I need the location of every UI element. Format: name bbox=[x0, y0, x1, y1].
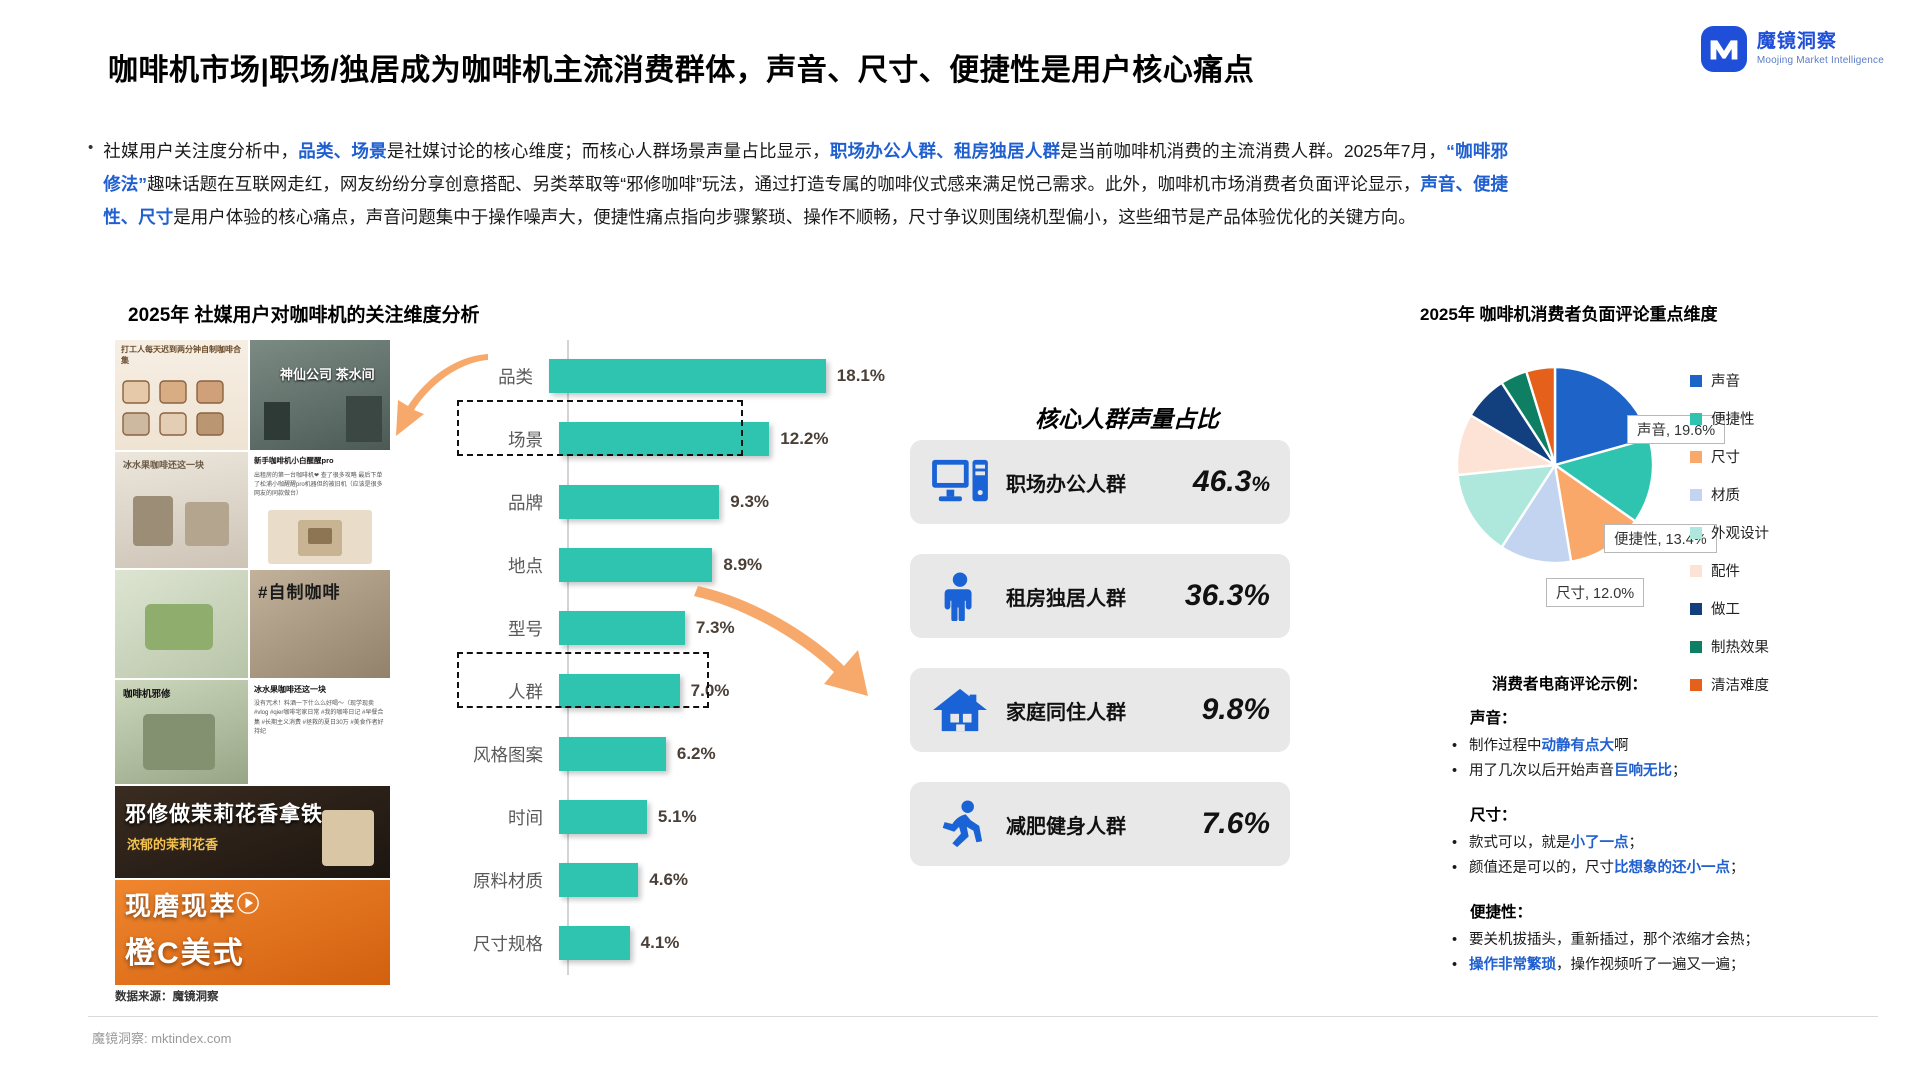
bar-category-label: 地点 bbox=[455, 553, 559, 578]
brand-logo: 魔镜洞察 Moojing Market Intelligence bbox=[1701, 26, 1884, 72]
bar-category-label: 尺寸规格 bbox=[455, 931, 559, 956]
bar-category-label: 风格图案 bbox=[455, 742, 559, 767]
collage-caption: 出租房的第一台咖啡机❤ 查了很多攻略 最后下单了松浦小咖醒醒pro机器但的被旧机… bbox=[254, 472, 386, 499]
crowd-card-family: 家庭同住人群 9.8% bbox=[910, 668, 1290, 752]
bar-value-label: 7.3% bbox=[696, 618, 735, 638]
pie-callout-size: 尺寸, 12.0% bbox=[1546, 578, 1644, 607]
bar-value-label: 12.2% bbox=[780, 429, 828, 449]
paragraph-text: 是社媒讨论的核心维度；而核心人群场景声量占比显示， bbox=[387, 141, 830, 161]
collage-caption: 现磨现萃 bbox=[125, 886, 237, 923]
bar-category-label: 时间 bbox=[455, 805, 559, 830]
legend-swatch bbox=[1690, 603, 1702, 615]
legend-swatch bbox=[1690, 641, 1702, 653]
collage-caption: 邪修做茉莉花香拿铁 bbox=[125, 798, 323, 828]
bar-chart-row: 时间5.1% bbox=[455, 789, 885, 845]
bar bbox=[559, 926, 630, 960]
legend-label: 清洁难度 bbox=[1711, 674, 1769, 695]
legend-label: 材质 bbox=[1711, 484, 1740, 505]
bar-chart-row: 风格图案6.2% bbox=[455, 726, 885, 782]
collage-caption: 橙C美式 bbox=[125, 928, 245, 972]
legend-label: 外观设计 bbox=[1711, 522, 1769, 543]
bar-chart-row: 地点8.9% bbox=[455, 537, 885, 593]
house-icon bbox=[930, 682, 990, 738]
comment-item: •要关机拔插头，重新插过，那个浓缩才会热； bbox=[1452, 929, 1832, 951]
desktop-computer-icon bbox=[930, 454, 990, 510]
paragraph-body: 社媒用户关注度分析中，品类、场景是社媒讨论的核心维度；而核心人群场景声量占比显示… bbox=[103, 135, 1508, 234]
bar-category-label: 品类 bbox=[455, 364, 549, 389]
page-title: 咖啡机市场|职场/独居成为咖啡机主流消费群体，声音、尺寸、便捷性是用户核心痛点 bbox=[108, 45, 1254, 89]
comment-group-heading: 尺寸： bbox=[1470, 803, 1832, 825]
legend-item: 声音 bbox=[1690, 370, 1769, 391]
legend-label: 便捷性 bbox=[1711, 408, 1755, 429]
legend-item: 配件 bbox=[1690, 560, 1769, 581]
coffee-machine-photo-icon bbox=[268, 510, 372, 564]
comment-text: 操作非常繁琐，操作视频听了一遍又一遍； bbox=[1469, 954, 1745, 976]
comment-group-heading: 声音： bbox=[1470, 706, 1832, 728]
collage-caption: 冰水果咖啡还这一块 bbox=[123, 458, 204, 471]
crowd-card-label: 家庭同住人群 bbox=[1006, 696, 1126, 725]
legend-swatch bbox=[1690, 489, 1702, 501]
bar bbox=[559, 611, 685, 645]
legend-item: 清洁难度 bbox=[1690, 674, 1769, 695]
collage-tile: 冰水果咖啡还这一块 bbox=[115, 452, 248, 568]
legend-label: 配件 bbox=[1711, 560, 1740, 581]
crowd-card-value: 9.8% bbox=[1202, 693, 1270, 727]
data-source-note: 数据来源：魔镜洞察 bbox=[115, 988, 219, 1004]
bar-category-label: 品牌 bbox=[455, 490, 559, 515]
paragraph-highlight: 职场办公人群、租房独居人群 bbox=[830, 141, 1060, 161]
legend-swatch bbox=[1690, 565, 1702, 577]
collage-tile: 现磨现萃 橙C美式 bbox=[115, 880, 390, 985]
comment-item: •款式可以，就是小了一点； bbox=[1452, 832, 1832, 854]
collage-caption: 打工人每天迟到两分钟自制咖啡合集 bbox=[121, 345, 242, 367]
paragraph-text: 趣味话题在互联网走红，网友纷纷分享创意搭配、另类萃取等“邪修咖啡”玩法，通过打造… bbox=[147, 174, 1420, 194]
comment-bullet: • bbox=[1452, 735, 1460, 757]
highlight-dashed-box bbox=[457, 400, 743, 456]
legend-item: 材质 bbox=[1690, 484, 1769, 505]
collage-tile: 冰水果咖啡还这一块 没有咒术！料酒一下什么么好喝～（现学现卖 #vlog #qi… bbox=[250, 680, 390, 784]
crowd-section-title: 核心人群声量占比 bbox=[1035, 400, 1219, 434]
legend-label: 做工 bbox=[1711, 598, 1740, 619]
comment-text: 用了几次以后开始声音巨响无比； bbox=[1469, 760, 1687, 782]
comment-item: •颜值还是可以的，尺寸比想象的还小一点； bbox=[1452, 857, 1832, 879]
legend-swatch bbox=[1690, 527, 1702, 539]
legend-item: 尺寸 bbox=[1690, 446, 1769, 467]
coffee-cup-illustrations-icon bbox=[115, 372, 248, 448]
comment-bullet: • bbox=[1452, 857, 1460, 879]
comment-group-heading: 便捷性： bbox=[1470, 900, 1832, 922]
legend-swatch bbox=[1690, 451, 1702, 463]
bar-value-label: 8.9% bbox=[723, 555, 762, 575]
comment-bullet: • bbox=[1452, 929, 1460, 951]
social-media-collage: 打工人每天迟到两分钟自制咖啡合集 神仙公司 茶水间 冰水果咖啡还这一块 新手咖啡… bbox=[115, 340, 390, 980]
comment-text: 颜值还是可以的，尺寸比想象的还小一点； bbox=[1469, 857, 1745, 879]
comments-title: 消费者电商评论示例： bbox=[1492, 672, 1647, 694]
collage-caption: 浓郁的茉莉花香 bbox=[127, 834, 218, 853]
comment-text: 要关机拔插头，重新插过，那个浓缩才会热； bbox=[1469, 929, 1759, 951]
collage-caption: 咖啡机邪修 bbox=[123, 686, 171, 700]
logo-subtitle: Moojing Market Intelligence bbox=[1757, 55, 1884, 66]
highlight-dashed-box bbox=[457, 652, 709, 708]
bar-chart-row: 品类18.1% bbox=[455, 348, 885, 404]
comment-text: 制作过程中动静有点大啊 bbox=[1469, 735, 1629, 757]
comment-item: •用了几次以后开始声音巨响无比； bbox=[1452, 760, 1832, 782]
bar-chart-row: 品牌9.3% bbox=[455, 474, 885, 530]
collage-caption: #自制咖啡 bbox=[258, 578, 340, 603]
crowd-card-label: 职场办公人群 bbox=[1006, 468, 1126, 497]
collage-tile bbox=[115, 570, 248, 678]
attention-dimension-bar-chart: 品类18.1%场景12.2%品牌9.3%地点8.9%型号7.3%人群7.0%风格… bbox=[455, 340, 885, 985]
collage-caption: 新手咖啡机小白醒醒pro bbox=[254, 456, 386, 466]
crowd-card-value: 7.6% bbox=[1202, 807, 1270, 841]
bar-value-label: 9.3% bbox=[730, 492, 769, 512]
summary-paragraph: • 社媒用户关注度分析中，品类、场景是社媒讨论的核心维度；而核心人群场景声量占比… bbox=[88, 135, 1508, 234]
bar bbox=[559, 863, 638, 897]
footer-divider bbox=[88, 1016, 1878, 1017]
bar-value-label: 5.1% bbox=[658, 807, 697, 827]
collage-tile: 新手咖啡机小白醒醒pro 出租房的第一台咖啡机❤ 查了很多攻略 最后下单了松浦小… bbox=[250, 452, 390, 568]
footer-text: 魔镜洞察: mktindex.com bbox=[92, 1028, 231, 1047]
legend-item: 做工 bbox=[1690, 598, 1769, 619]
bar-value-label: 18.1% bbox=[837, 366, 885, 386]
person-standing-icon bbox=[930, 568, 990, 624]
crowd-card-renting: 租房独居人群 36.3% bbox=[910, 554, 1290, 638]
left-chart-heading: 2025年 社媒用户对咖啡机的关注维度分析 bbox=[128, 300, 480, 327]
bar-chart-row: 尺寸规格4.1% bbox=[455, 915, 885, 971]
bar bbox=[559, 800, 647, 834]
bar-value-label: 6.2% bbox=[677, 744, 716, 764]
bar-chart-row: 原料材质4.6% bbox=[455, 852, 885, 908]
crowd-card-value: 36.3% bbox=[1185, 579, 1270, 613]
right-chart-heading: 2025年 咖啡机消费者负面评论重点维度 bbox=[1420, 300, 1718, 325]
paragraph-text: 是用户体验的核心痛点，声音问题集中于操作噪声大，便捷性痛点指向步骤繁琐、操作不顺… bbox=[173, 207, 1416, 227]
paragraph-text: 是当前咖啡机消费的主流消费人群。2025年7月， bbox=[1060, 141, 1446, 161]
collage-caption: 冰水果咖啡还这一块 bbox=[254, 684, 386, 695]
comment-examples: 声音：•制作过程中动静有点大啊•用了几次以后开始声音巨响无比；尺寸：•款式可以，… bbox=[1452, 706, 1832, 980]
bar-value-label: 4.6% bbox=[649, 870, 688, 890]
legend-label: 制热效果 bbox=[1711, 636, 1769, 657]
collage-caption: 没有咒术！料酒一下什么么好喝～（现学现卖 #vlog #qier咖啡宅家日常 #… bbox=[254, 700, 386, 737]
pie-legend: 声音便捷性尺寸材质外观设计配件做工制热效果清洁难度 bbox=[1690, 370, 1769, 712]
running-person-icon bbox=[930, 796, 990, 852]
legend-item: 制热效果 bbox=[1690, 636, 1769, 657]
play-button-icon[interactable] bbox=[237, 892, 259, 914]
comment-bullet: • bbox=[1452, 760, 1460, 782]
paragraph-bullet: • bbox=[88, 135, 93, 234]
bar bbox=[549, 359, 826, 393]
crowd-card-office: 职场办公人群 46.3% bbox=[910, 440, 1290, 524]
comment-text: 款式可以，就是小了一点； bbox=[1469, 832, 1643, 854]
bar-category-label: 原料材质 bbox=[455, 868, 559, 893]
moojing-logo-icon bbox=[1701, 26, 1747, 72]
paragraph-text: 社媒用户关注度分析中， bbox=[103, 141, 298, 161]
crowd-card-label: 减肥健身人群 bbox=[1006, 810, 1126, 839]
legend-item: 外观设计 bbox=[1690, 522, 1769, 543]
bar bbox=[559, 737, 666, 771]
bar bbox=[559, 485, 719, 519]
bar-chart-row: 型号7.3% bbox=[455, 600, 885, 656]
legend-label: 声音 bbox=[1711, 370, 1740, 391]
collage-tile: 打工人每天迟到两分钟自制咖啡合集 bbox=[115, 340, 248, 450]
collage-tile: 邪修做茉莉花香拿铁 浓郁的茉莉花香 bbox=[115, 786, 390, 878]
crowd-card-fitness: 减肥健身人群 7.6% bbox=[910, 782, 1290, 866]
bar-value-label: 4.1% bbox=[641, 933, 680, 953]
collage-tile: #自制咖啡 bbox=[250, 570, 390, 678]
collage-tile: 咖啡机邪修 bbox=[115, 680, 248, 784]
bar-category-label: 型号 bbox=[455, 616, 559, 641]
logo-title: 魔镜洞察 bbox=[1757, 32, 1884, 53]
comment-item: •制作过程中动静有点大啊 bbox=[1452, 735, 1832, 757]
crowd-card-value: 46.3% bbox=[1193, 465, 1270, 499]
comment-bullet: • bbox=[1452, 832, 1460, 854]
comment-bullet: • bbox=[1452, 954, 1460, 976]
paragraph-highlight: 品类、场景 bbox=[298, 141, 387, 161]
legend-item: 便捷性 bbox=[1690, 408, 1769, 429]
legend-swatch bbox=[1690, 679, 1702, 691]
bar bbox=[559, 548, 712, 582]
legend-label: 尺寸 bbox=[1711, 446, 1740, 467]
collage-caption: 神仙公司 茶水间 bbox=[280, 364, 375, 383]
collage-tile: 神仙公司 茶水间 bbox=[250, 340, 390, 450]
legend-swatch bbox=[1690, 375, 1702, 387]
comment-item: •操作非常繁琐，操作视频听了一遍又一遍； bbox=[1452, 954, 1832, 976]
legend-swatch bbox=[1690, 413, 1702, 425]
crowd-card-label: 租房独居人群 bbox=[1006, 582, 1126, 611]
